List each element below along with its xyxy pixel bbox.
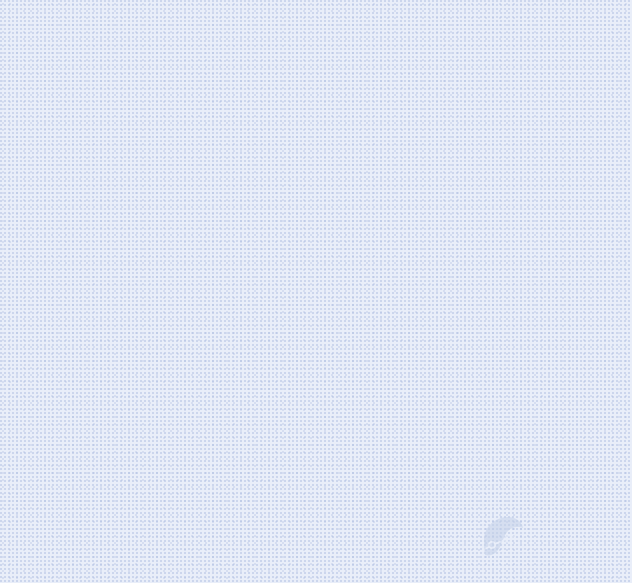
chart-bottom-svg — [0, 262, 632, 512]
chart-emissions-conducted — [0, 262, 632, 512]
chart-top-svg — [0, 10, 632, 260]
chart-emissions-radiated — [0, 10, 632, 260]
chip-leaf-icon — [478, 514, 526, 564]
watermark — [478, 512, 628, 576]
